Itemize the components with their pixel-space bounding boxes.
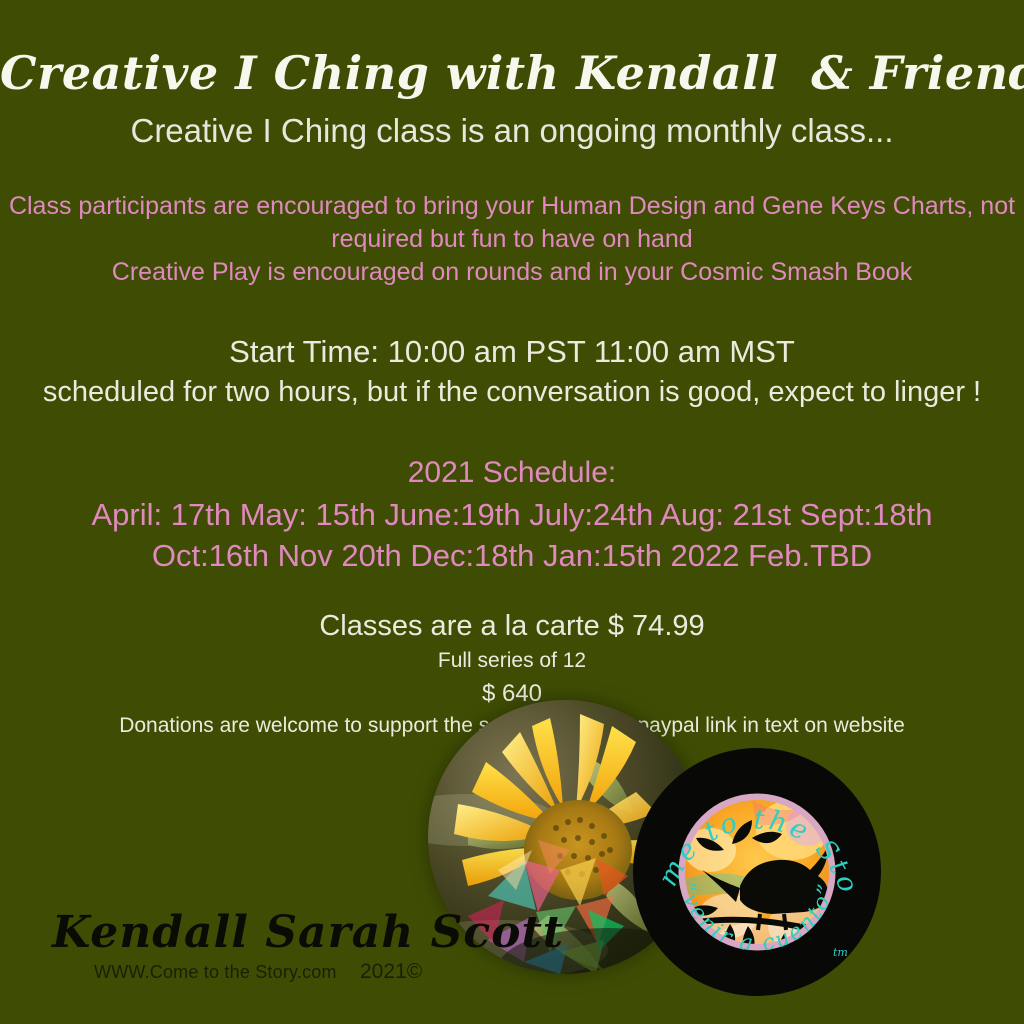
series-label: Full series of 12 (0, 645, 1024, 677)
a-la-carte-price: Classes are a la carte $ 74.99 (0, 608, 1024, 645)
come-to-the-story-logo: Come to the Story “venir a cuento” tm (632, 730, 882, 1010)
class-note-line-3: Creative Play is encouraged on rounds an… (0, 256, 1024, 289)
series-price: $ 640 (0, 677, 1024, 710)
class-note-line-1: Class participants are encouraged to bri… (0, 190, 1024, 223)
class-time-info: Start Time: 10:00 am PST 11:00 am MST sc… (0, 332, 1024, 412)
class-notes: Class participants are encouraged to bri… (0, 190, 1024, 289)
class-note-line-2: required but fun to have on hand (0, 223, 1024, 256)
start-time-line: Start Time: 10:00 am PST 11:00 am MST (0, 332, 1024, 372)
flyer-canvas: Come to the Story “venir a cuento” tm Cr… (0, 0, 1024, 1024)
schedule-heading: 2021 Schedule: (0, 452, 1024, 494)
duration-line: scheduled for two hours, but if the conv… (0, 372, 1024, 412)
page-subtitle: Creative I Ching class is an ongoing mon… (0, 112, 1024, 150)
signature-name: Kendall Sarah Scott (52, 908, 472, 958)
copyright-year: 2021© (360, 960, 422, 984)
schedule-row-2: Oct:16th Nov 20th Dec:18th Jan:15th 2022… (0, 535, 1024, 576)
signature-website[interactable]: WWW.Come to the Story.com (94, 962, 337, 983)
schedule-section: 2021 Schedule: April: 17th May: 15th Jun… (0, 452, 1024, 576)
schedule-row-1: April: 17th May: 15th June:19th July:24t… (0, 494, 1024, 535)
signature-block: Kendall Sarah Scott WWW.Come to the Stor… (52, 908, 472, 958)
page-title: Creative I Ching with Kendall & Friends (0, 46, 1024, 100)
logo-trademark: tm (833, 946, 848, 959)
